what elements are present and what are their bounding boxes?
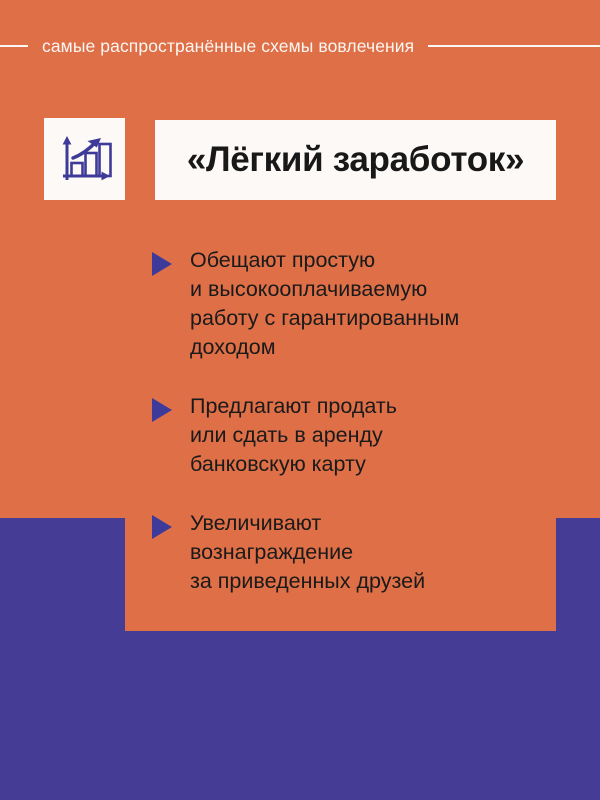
list-item-text: Предлагают продать или сдать в аренду ба… — [190, 392, 397, 479]
list-item-text: Обещают простую и высокооплачиваемую раб… — [190, 246, 459, 362]
header-bar: самые распространённые схемы вовлечения — [0, 33, 600, 59]
triangle-right-marker-icon — [152, 515, 172, 539]
card-title: «Лёгкий заработок» — [187, 140, 524, 180]
list-item: Обещают простую и высокооплачиваемую раб… — [152, 246, 552, 362]
card-title-plate: «Лёгкий заработок» — [155, 120, 556, 200]
triangle-right-marker-icon — [152, 252, 172, 276]
header-title: самые распространённые схемы вовлечения — [42, 36, 414, 57]
header-rule-left — [0, 45, 28, 47]
list-item: Предлагают продать или сдать в аренду ба… — [152, 392, 552, 479]
poster-canvas: самые распространённые схемы вовлечения — [0, 0, 600, 800]
triangle-right-marker-icon — [152, 398, 172, 422]
bullet-list: Обещают простую и высокооплачиваемую раб… — [152, 246, 552, 596]
list-item: Увеличивают вознаграждение за приведенны… — [152, 509, 552, 596]
list-item-text: Увеличивают вознаграждение за приведенны… — [190, 509, 425, 596]
icon-tile — [44, 118, 125, 200]
bar-chart-growth-icon — [54, 128, 116, 190]
header-rule-right — [428, 45, 600, 47]
